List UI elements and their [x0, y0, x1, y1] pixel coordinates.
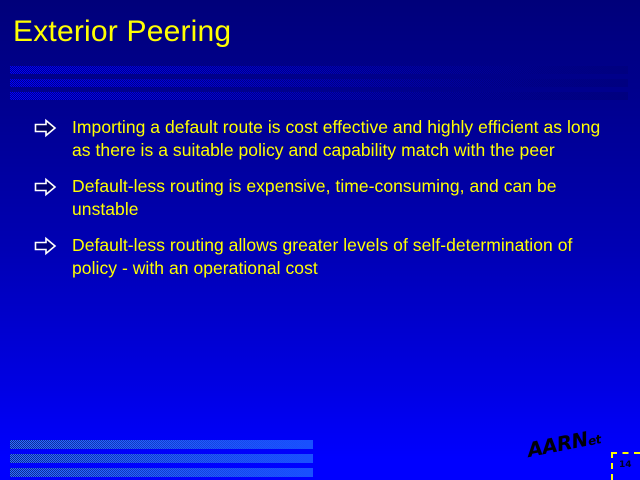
- decorative-bar: [10, 92, 628, 100]
- hollow-right-arrow-icon: [34, 177, 60, 197]
- decorative-bar: [10, 66, 628, 74]
- list-item-label: Default-less routing is expensive, time-…: [72, 175, 606, 221]
- bottom-decorative-bars: [10, 440, 313, 480]
- slide-canvas: Exterior Peering Importing a default rou…: [0, 0, 640, 480]
- top-decorative-bars: [10, 66, 628, 105]
- list-item-label: Importing a default route is cost effect…: [72, 116, 606, 162]
- hollow-right-arrow-icon: [34, 236, 60, 256]
- aarnet-logo-main: AARN: [525, 427, 590, 462]
- dither-overlay: [10, 440, 313, 449]
- list-item: Default-less routing is expensive, time-…: [34, 175, 606, 221]
- dither-overlay: [10, 468, 313, 477]
- page-number: 14: [619, 460, 632, 470]
- page-number-placeholder: 14: [611, 452, 640, 480]
- aarnet-logo: AARNet: [530, 436, 608, 466]
- dither-overlay: [10, 79, 628, 87]
- decorative-bar: [10, 468, 313, 477]
- bullet-list: Importing a default route is cost effect…: [34, 116, 606, 293]
- list-item: Importing a default route is cost effect…: [34, 116, 606, 162]
- list-item-label: Default-less routing allows greater leve…: [72, 234, 606, 280]
- dither-overlay: [10, 454, 313, 463]
- aarnet-logo-suffix: et: [587, 432, 602, 448]
- decorative-bar: [10, 79, 628, 87]
- dither-overlay: [10, 66, 628, 74]
- list-item: Default-less routing allows greater leve…: [34, 234, 606, 280]
- dither-overlay: [10, 92, 628, 100]
- hollow-right-arrow-icon: [34, 118, 60, 138]
- page-title: Exterior Peering: [13, 15, 613, 49]
- aarnet-logo-text: AARNet: [526, 426, 603, 463]
- decorative-bar: [10, 440, 313, 449]
- decorative-bar: [10, 454, 313, 463]
